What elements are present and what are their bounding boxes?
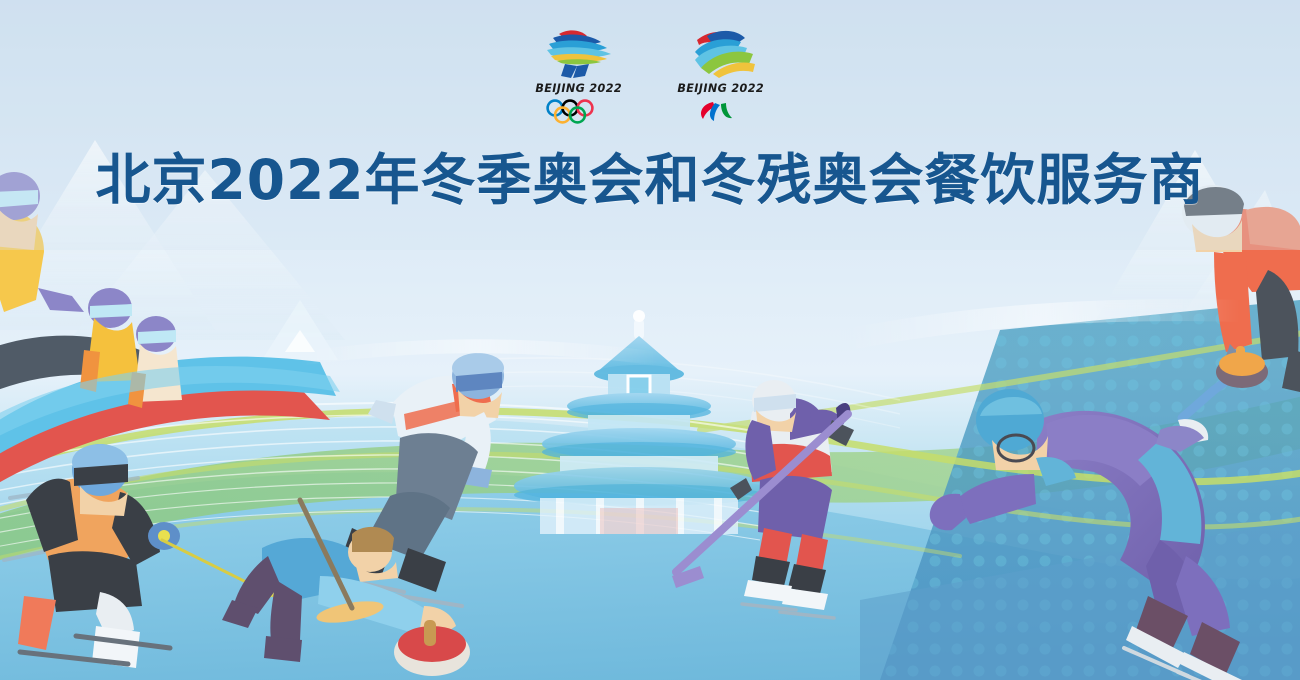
flying-high-emblem <box>673 26 769 78</box>
olympic-rings <box>539 98 619 124</box>
paralympic-agitos <box>681 98 761 124</box>
emblem-bar: BEIJING 2022 BEIJING 2022 <box>0 26 1300 136</box>
beijing-2022-banner: BEIJING 2022 BEIJING 2022 <box>0 0 1300 680</box>
winter-dream-emblem <box>531 26 627 78</box>
page-title: 北京2022年冬季奥会和冬残奥会餐饮服务商 <box>0 148 1300 212</box>
olympic-emblem: BEIJING 2022 <box>530 26 628 124</box>
paralympic-wordmark: BEIJING 2022 <box>678 81 765 95</box>
olympic-wordmark: BEIJING 2022 <box>536 81 623 95</box>
paralympic-emblem: BEIJING 2022 <box>672 26 770 124</box>
